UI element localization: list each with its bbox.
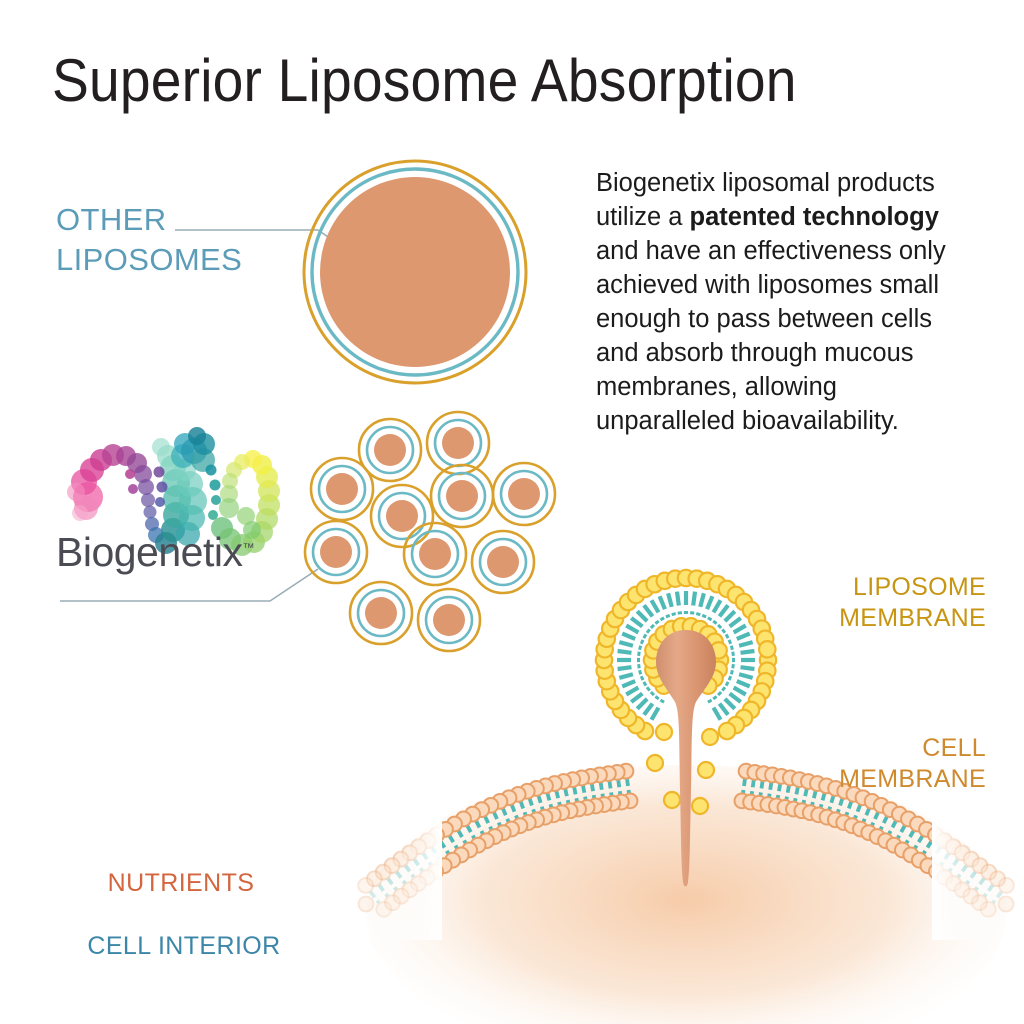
label-cell-membrane: CELL MEMBRANE (839, 733, 986, 795)
small-liposome (350, 582, 412, 644)
biogenetix-wordmark: Biogenetix™ (56, 529, 254, 576)
body-paragraph: Biogenetix liposomal products utilize a … (596, 166, 974, 438)
trademark-symbol: ™ (242, 540, 254, 554)
body-text-part2: and have an effectiveness only achieved … (596, 237, 946, 435)
small-liposome (305, 521, 367, 583)
biogenetix-wordmark-text: Biogenetix (56, 529, 242, 575)
small-liposome (431, 465, 493, 527)
label-cell-interior: CELL INTERIOR (0, 932, 696, 961)
small-liposome (472, 531, 534, 593)
small-liposome (371, 485, 433, 547)
membrane-fade-right (932, 790, 1004, 940)
infographic-canvas: Superior Liposome Absorption Biogenetix … (0, 0, 1024, 1024)
membrane-fade-left (370, 790, 442, 940)
large-liposome (304, 161, 526, 383)
page-title: Superior Liposome Absorption (52, 46, 917, 115)
small-liposome (418, 589, 480, 651)
small-liposome-cluster (305, 412, 555, 651)
label-other-liposomes: OTHER LIPOSOMES (56, 200, 242, 280)
small-liposome (493, 463, 555, 525)
body-text-bold: patented technology (690, 203, 939, 231)
small-liposome (311, 458, 373, 520)
label-nutrients: NUTRIENTS (0, 869, 693, 898)
label-liposome-membrane: LIPOSOME MEMBRANE (839, 572, 986, 634)
small-liposome (404, 523, 466, 585)
